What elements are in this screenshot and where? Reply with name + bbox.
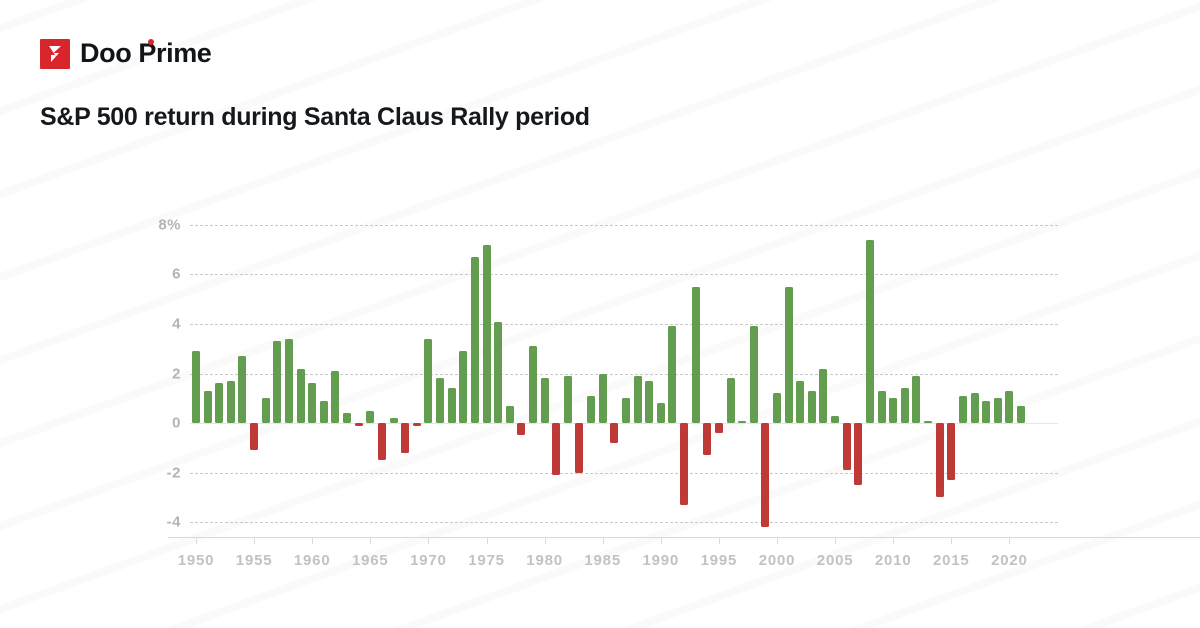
x-axis-tick-label: 1985 (584, 552, 621, 569)
bar (808, 391, 816, 423)
bar (541, 378, 549, 423)
bar (866, 240, 874, 423)
bar (529, 346, 537, 423)
bar (517, 423, 525, 435)
x-axis-tick (254, 537, 255, 544)
gridline (190, 473, 1058, 474)
bar (587, 396, 595, 423)
x-axis-tick-label: 1965 (352, 552, 389, 569)
bar (355, 423, 363, 425)
bar (761, 423, 769, 527)
bar (994, 398, 1002, 423)
bar (413, 423, 421, 425)
bar (750, 326, 758, 423)
y-axis-tick-label: -4 (167, 514, 181, 531)
gridline (190, 374, 1058, 375)
gridline (190, 522, 1058, 523)
x-axis-tick-label: 1960 (294, 552, 331, 569)
x-axis-tick-label: 1950 (178, 552, 215, 569)
bar (645, 381, 653, 423)
x-axis-tick (312, 537, 313, 544)
bar (192, 351, 200, 423)
x-axis-tick-label: 1970 (410, 552, 447, 569)
x-axis-tick (545, 537, 546, 544)
bar (924, 421, 932, 423)
bar (215, 383, 223, 423)
bar (483, 245, 491, 423)
x-axis-tick-label: 2000 (759, 552, 796, 569)
bar (982, 401, 990, 423)
bar (680, 423, 688, 505)
bar (331, 371, 339, 423)
x-axis-tick-label: 1990 (643, 552, 680, 569)
bar (285, 339, 293, 423)
bar (634, 376, 642, 423)
y-axis-tick-label: 0 (172, 415, 181, 432)
brand-accent-dot (148, 39, 154, 45)
y-axis-tick-label: 4 (172, 315, 181, 332)
bar (494, 322, 502, 424)
bar-chart-plot: 8%6420-2-4 19501955196019651970197519801… (190, 215, 1058, 537)
x-axis-tick-label: 1955 (236, 552, 273, 569)
bar (727, 378, 735, 423)
bar (703, 423, 711, 455)
x-axis-tick (719, 537, 720, 544)
x-axis-tick-label: 1980 (526, 552, 563, 569)
bar (262, 398, 270, 423)
bar (320, 401, 328, 423)
y-axis-tick-label: -2 (167, 464, 181, 481)
bar (692, 287, 700, 423)
bar (947, 423, 955, 480)
page-title: S&P 500 return during Santa Claus Rally … (40, 103, 590, 132)
gridline (190, 324, 1058, 325)
bar (1017, 406, 1025, 423)
x-axis-tick (661, 537, 662, 544)
bar (878, 391, 886, 423)
bar (390, 418, 398, 423)
brand-logo: Doo Prime (40, 38, 211, 69)
bar (819, 369, 827, 423)
bar (622, 398, 630, 423)
bar (889, 398, 897, 423)
bar (227, 381, 235, 423)
bar (424, 339, 432, 423)
y-axis-tick-label: 6 (172, 266, 181, 283)
x-axis-tick (1009, 537, 1010, 544)
gridline (190, 274, 1058, 275)
doo-prime-flag-icon (40, 39, 70, 69)
bar (668, 326, 676, 423)
bar (901, 388, 909, 423)
bar (610, 423, 618, 443)
bar (715, 423, 723, 433)
x-axis-line (168, 537, 1200, 538)
bar (936, 423, 944, 497)
bar (796, 381, 804, 423)
bar (436, 378, 444, 423)
bar (308, 383, 316, 423)
x-axis-tick (370, 537, 371, 544)
bar (773, 393, 781, 423)
bar (599, 374, 607, 424)
x-axis-tick (777, 537, 778, 544)
bar (575, 423, 583, 473)
bar (506, 406, 514, 423)
x-axis-tick (428, 537, 429, 544)
bar (552, 423, 560, 475)
bar (657, 403, 665, 423)
bar (366, 411, 374, 423)
bar (843, 423, 851, 470)
bar (343, 413, 351, 423)
x-axis-tick-label: 2015 (933, 552, 970, 569)
bar (273, 341, 281, 423)
x-axis-tick (893, 537, 894, 544)
x-axis-tick-label: 2020 (991, 552, 1028, 569)
bar (238, 356, 246, 423)
bar (204, 391, 212, 423)
bar (448, 388, 456, 423)
y-axis-tick-label: 8% (158, 216, 181, 233)
bar (912, 376, 920, 423)
bar (971, 393, 979, 423)
bar (1005, 391, 1013, 423)
x-axis-tick-label: 1975 (468, 552, 505, 569)
gridline (190, 423, 1058, 424)
bar (959, 396, 967, 423)
x-axis-tick-label: 2010 (875, 552, 912, 569)
bar (401, 423, 409, 453)
infographic-page: Doo Prime S&P 500 return during Santa Cl… (0, 0, 1200, 628)
bar (459, 351, 467, 423)
y-axis-tick-label: 2 (172, 365, 181, 382)
bar (297, 369, 305, 423)
x-axis-tick-label: 2005 (817, 552, 854, 569)
x-axis-tick (603, 537, 604, 544)
bar (831, 416, 839, 423)
bar (471, 257, 479, 423)
bar (785, 287, 793, 423)
gridline (190, 225, 1058, 226)
bar (378, 423, 386, 460)
brand-name-text: Doo Prime (80, 38, 211, 68)
x-axis-tick (487, 537, 488, 544)
bar (250, 423, 258, 450)
brand-name: Doo Prime (80, 38, 211, 69)
bar (738, 421, 746, 423)
x-axis-tick (835, 537, 836, 544)
bar (854, 423, 862, 485)
x-axis-tick (951, 537, 952, 544)
bar (564, 376, 572, 423)
x-axis-tick (196, 537, 197, 544)
x-axis-tick-label: 1995 (701, 552, 738, 569)
